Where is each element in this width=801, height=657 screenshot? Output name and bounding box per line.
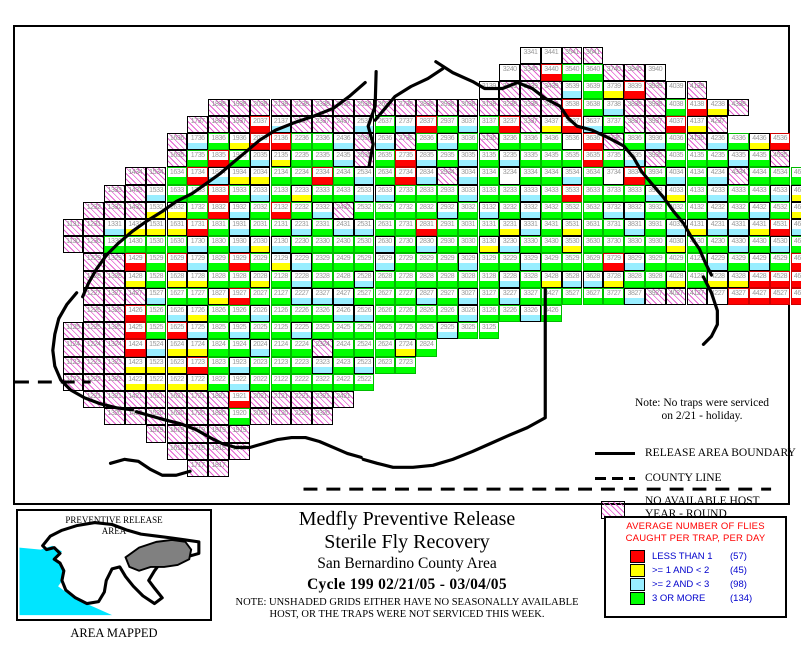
trap-grid-cell[interactable]: 1734 [187,167,208,184]
trap-grid-cell[interactable]: 3539 [562,81,583,98]
trap-grid-cell[interactable]: 3632 [583,202,604,219]
trap-grid-cell[interactable]: 2222 [291,374,312,391]
trap-grid-cell[interactable]: 4032 [666,202,687,219]
trap-grid-cell[interactable]: 3028 [458,271,479,288]
trap-grid-cell[interactable]: 3229 [499,253,520,270]
trap-grid-cell[interactable]: 3232 [499,202,520,219]
trap-grid-cell[interactable]: 2535 [354,150,375,167]
trap-grid-cell[interactable]: 3727 [603,288,624,305]
trap-grid-cell[interactable]: 1719 [187,425,208,442]
trap-grid-cell[interactable]: 1228 [83,271,104,288]
trap-grid-cell[interactable]: 1425 [125,322,146,339]
trap-grid-cell[interactable]: 3731 [603,219,624,236]
trap-grid-cell[interactable]: 4527 [770,288,791,305]
trap-grid-cell[interactable]: 4234 [707,167,728,184]
trap-grid-cell[interactable]: 2327 [312,288,333,305]
trap-grid-cell[interactable]: 1931 [229,219,250,236]
trap-grid-cell[interactable]: 4330 [728,236,749,253]
trap-grid-cell[interactable]: 1819 [208,425,229,442]
trap-grid-cell[interactable]: 2533 [354,185,375,202]
trap-grid-cell[interactable]: 2925 [437,322,458,339]
trap-grid-cell[interactable]: 1937 [229,116,250,133]
trap-grid-cell[interactable]: 3533 [562,185,583,202]
trap-grid-cell[interactable]: 4532 [770,202,791,219]
trap-grid-cell[interactable]: 2230 [291,236,312,253]
trap-grid-cell[interactable]: 2136 [271,133,292,150]
trap-grid-cell[interactable]: 4136 [687,133,708,150]
trap-grid-cell[interactable]: 2632 [375,202,396,219]
trap-grid-cell[interactable]: 2522 [354,374,375,391]
trap-grid-cell[interactable]: 1717 [187,460,208,477]
trap-grid-cell[interactable]: 1729 [187,253,208,270]
trap-grid-cell[interactable]: 3634 [583,167,604,184]
trap-grid-cell[interactable]: 4027 [666,288,687,305]
trap-grid-cell[interactable]: 3734 [603,167,624,184]
trap-grid-cell[interactable]: 2725 [395,322,416,339]
trap-grid-cell[interactable]: 3029 [458,253,479,270]
trap-grid-cell[interactable]: 2030 [250,236,271,253]
trap-grid-cell[interactable]: 1524 [146,339,167,356]
trap-grid-cell[interactable]: 2526 [354,305,375,322]
trap-grid-cell[interactable]: 1920 [229,408,250,425]
trap-grid-cell[interactable]: 4436 [749,133,770,150]
trap-grid-cell[interactable]: 2927 [437,288,458,305]
trap-grid-cell[interactable]: 2426 [333,305,354,322]
trap-grid-cell[interactable]: 2037 [250,116,271,133]
trap-grid-cell[interactable]: 1222 [83,374,104,391]
trap-grid-cell[interactable]: 3540 [562,64,583,81]
trap-grid-cell[interactable]: 2029 [250,253,271,270]
trap-grid-cell[interactable]: 2628 [375,271,396,288]
trap-grid-cell[interactable]: 4233 [707,185,728,202]
trap-grid-cell[interactable]: 1832 [208,202,229,219]
trap-grid-cell[interactable]: 3828 [624,271,645,288]
trap-grid-cell[interactable]: 1825 [208,322,229,339]
trap-grid-cell[interactable]: 1519 [146,425,167,442]
trap-grid-cell[interactable]: 1619 [167,425,188,442]
trap-grid-cell[interactable]: 3233 [499,185,520,202]
trap-grid-cell[interactable]: 3531 [562,219,583,236]
trap-grid-cell[interactable]: 2036 [250,133,271,150]
trap-grid-cell[interactable]: 4530 [770,236,791,253]
trap-grid-cell[interactable]: 2531 [354,219,375,236]
trap-grid-cell[interactable]: 3134 [479,167,500,184]
trap-grid-cell[interactable]: 1528 [146,271,167,288]
trap-grid-cell[interactable]: 2832 [416,202,437,219]
trap-grid-cell[interactable]: 2634 [375,167,396,184]
trap-grid-cell[interactable]: 1725 [187,322,208,339]
trap-grid-cell[interactable]: 2425 [333,322,354,339]
trap-grid-cell[interactable]: 2038 [250,99,271,116]
trap-grid-cell[interactable]: 3635 [583,150,604,167]
trap-grid-cell[interactable]: 3629 [583,253,604,270]
trap-grid-cell[interactable]: 2738 [395,99,416,116]
trap-grid-cell[interactable]: 1925 [229,322,250,339]
trap-grid-cell[interactable]: 4633 [791,185,801,202]
trap-grid-cell[interactable]: 3035 [458,150,479,167]
trap-grid-cell[interactable]: 3340 [520,64,541,81]
trap-grid-cell[interactable]: 2121 [271,391,292,408]
trap-grid-cell[interactable]: 3228 [499,271,520,288]
trap-grid-cell[interactable]: 2137 [271,116,292,133]
trap-grid-cell[interactable]: 1620 [167,408,188,425]
trap-grid-cell[interactable]: 1124 [63,339,84,356]
trap-grid-cell[interactable]: 3933 [645,185,666,202]
trap-grid-cell[interactable]: 3333 [520,185,541,202]
trap-grid-cell[interactable]: 4133 [687,185,708,202]
trap-grid-cell[interactable]: 3436 [541,133,562,150]
trap-grid-cell[interactable]: 2726 [395,305,416,322]
trap-grid-cell[interactable]: 4535 [770,150,791,167]
trap-grid-cell[interactable]: 1224 [83,339,104,356]
trap-grid-cell[interactable]: 3438 [541,99,562,116]
trap-grid-cell[interactable]: 2926 [437,305,458,322]
trap-grid-cell[interactable]: 2332 [312,202,333,219]
trap-grid-cell[interactable]: 1936 [229,133,250,150]
trap-grid-cell[interactable]: 2530 [354,236,375,253]
trap-grid-cell[interactable]: 3440 [541,64,562,81]
trap-grid-cell[interactable]: 2334 [312,167,333,184]
trap-grid-cell[interactable]: 3131 [479,219,500,236]
trap-grid-cell[interactable]: 4227 [707,288,728,305]
trap-grid-cell[interactable]: 4628 [791,271,801,288]
trap-grid-cell[interactable]: 1630 [167,236,188,253]
trap-grid-cell[interactable]: 3939 [645,81,666,98]
trap-grid-cell[interactable]: 3437 [541,116,562,133]
trap-grid-cell[interactable]: 3627 [583,288,604,305]
trap-grid-cell[interactable]: 1323 [104,357,125,374]
trap-grid-cell[interactable]: 3932 [645,202,666,219]
trap-grid-cell[interactable]: 1831 [208,219,229,236]
trap-grid-cell[interactable]: 3227 [499,288,520,305]
trap-grid-cell[interactable]: 2026 [250,305,271,322]
trap-grid-cell[interactable]: 2835 [416,150,437,167]
trap-grid-cell[interactable]: 1631 [167,219,188,236]
trap-grid-cell[interactable]: 2127 [271,288,292,305]
trap-grid-cell[interactable]: 3532 [562,202,583,219]
trap-grid-cell[interactable]: 4529 [770,253,791,270]
trap-grid-cell[interactable]: 3927 [645,288,666,305]
trap-grid-cell[interactable]: 2638 [375,99,396,116]
trap-grid-cell[interactable]: 3529 [562,253,583,270]
trap-grid-cell[interactable]: 2623 [375,357,396,374]
trap-grid-cell[interactable]: 2629 [375,253,396,270]
trap-grid[interactable]: 3341344135413641324033403440354036403740… [15,27,788,503]
trap-grid-cell[interactable]: 4231 [707,219,728,236]
trap-grid-cell[interactable]: 2024 [250,339,271,356]
trap-grid-cell[interactable]: 2931 [437,219,458,236]
trap-grid-cell[interactable]: 1821 [208,391,229,408]
trap-grid-cell[interactable]: 3640 [583,64,604,81]
trap-grid-cell[interactable]: 2223 [291,357,312,374]
trap-grid-cell[interactable]: 2021 [250,391,271,408]
trap-grid-cell[interactable]: 1324 [104,339,125,356]
trap-grid-cell[interactable]: 4229 [707,253,728,270]
trap-grid-cell[interactable]: 3838 [624,99,645,116]
trap-grid-cell[interactable]: 1726 [187,305,208,322]
trap-grid-cell[interactable]: 4128 [687,271,708,288]
trap-grid-cell[interactable]: 2233 [291,185,312,202]
trap-grid-cell[interactable]: 1837 [208,116,229,133]
trap-grid-cell[interactable]: 2724 [395,339,416,356]
trap-grid-cell[interactable]: 1531 [146,219,167,236]
trap-grid-cell[interactable]: 4033 [666,185,687,202]
trap-grid-cell[interactable]: 4235 [707,150,728,167]
trap-grid-cell[interactable]: 4130 [687,236,708,253]
trap-grid-cell[interactable]: 3931 [645,219,666,236]
trap-grid-cell[interactable]: 2836 [416,133,437,150]
trap-grid-cell[interactable]: 1935 [229,150,250,167]
trap-grid-cell[interactable]: 2220 [291,408,312,425]
trap-grid-cell[interactable]: 2534 [354,167,375,184]
trap-grid-cell[interactable]: 2434 [333,167,354,184]
trap-grid-cell[interactable]: 1532 [146,202,167,219]
trap-grid-cell[interactable]: 1627 [167,288,188,305]
trap-grid-cell[interactable]: 2228 [291,271,312,288]
trap-grid-cell[interactable]: 3235 [499,150,520,167]
trap-grid-cell[interactable]: 3139 [479,81,500,98]
trap-grid-cell[interactable]: 1918 [229,443,250,460]
trap-grid-cell[interactable]: 3737 [603,116,624,133]
trap-grid-cell[interactable]: 1731 [187,219,208,236]
trap-grid-cell[interactable]: 1329 [104,253,125,270]
trap-grid-cell[interactable]: 3431 [541,219,562,236]
trap-grid-cell[interactable]: 3237 [499,116,520,133]
trap-grid-cell[interactable]: 3637 [583,116,604,133]
trap-grid-cell[interactable]: 3535 [562,150,583,167]
trap-grid-cell[interactable]: 1827 [208,288,229,305]
trap-grid-cell[interactable]: 3036 [458,133,479,150]
trap-grid-cell[interactable]: 3538 [562,99,583,116]
trap-grid-cell[interactable]: 4331 [728,219,749,236]
trap-grid-cell[interactable]: 3435 [541,150,562,167]
trap-grid-cell[interactable]: 2131 [271,219,292,236]
trap-grid-cell[interactable]: 3133 [479,185,500,202]
trap-grid-cell[interactable]: 2234 [291,167,312,184]
trap-grid-cell[interactable]: 1422 [125,374,146,391]
trap-grid-cell[interactable]: 2631 [375,219,396,236]
trap-grid-cell[interactable]: 4138 [687,99,708,116]
trap-grid-cell[interactable]: 4432 [749,202,770,219]
trap-grid-cell[interactable]: 3827 [624,288,645,305]
trap-grid-cell[interactable]: 3027 [458,288,479,305]
trap-grid-cell[interactable]: 2330 [312,236,333,253]
trap-grid-cell[interactable]: 1321 [104,391,125,408]
trap-grid-cell[interactable]: 1130 [63,236,84,253]
trap-grid-cell[interactable]: 2435 [333,150,354,167]
trap-grid-cell[interactable]: 1722 [187,374,208,391]
trap-grid-cell[interactable]: 3338 [520,99,541,116]
trap-grid-cell[interactable]: 2025 [250,322,271,339]
trap-grid-cell[interactable]: 1625 [167,322,188,339]
trap-grid-cell[interactable]: 4030 [666,236,687,253]
trap-grid-cell[interactable]: 1534 [146,167,167,184]
trap-grid-cell[interactable]: 1229 [83,253,104,270]
trap-grid-cell[interactable]: 1732 [187,202,208,219]
trap-grid-cell[interactable]: 4634 [791,167,801,184]
trap-grid-cell[interactable]: 1817 [208,460,229,477]
trap-grid-cell[interactable]: 3429 [541,253,562,270]
trap-grid-cell[interactable]: 3132 [479,202,500,219]
trap-grid-cell[interactable]: 2635 [375,150,396,167]
trap-grid-cell[interactable]: 4036 [666,133,687,150]
trap-grid-cell[interactable]: 2023 [250,357,271,374]
trap-grid-cell[interactable]: 1737 [187,116,208,133]
trap-grid-cell[interactable]: 3832 [624,202,645,219]
trap-grid-cell[interactable]: 2424 [333,339,354,356]
trap-grid-cell[interactable]: 1331 [104,219,125,236]
trap-grid-cell[interactable]: 4236 [707,133,728,150]
trap-grid-cell[interactable]: 3240 [499,64,520,81]
trap-grid-cell[interactable]: 3331 [520,219,541,236]
trap-grid-cell[interactable]: 3337 [520,116,541,133]
trap-grid-cell[interactable]: 1921 [229,391,250,408]
trap-grid-cell[interactable]: 1829 [208,253,229,270]
trap-grid-cell[interactable]: 2431 [333,219,354,236]
trap-grid-cell[interactable]: 1131 [63,219,84,236]
trap-grid-cell[interactable]: 2138 [271,99,292,116]
trap-grid-cell[interactable]: 4037 [666,116,687,133]
trap-grid-cell[interactable]: 4534 [770,167,791,184]
trap-grid-cell[interactable]: 1828 [208,271,229,288]
trap-grid-cell[interactable]: 3430 [541,236,562,253]
trap-grid-cell[interactable]: 1626 [167,305,188,322]
trap-grid-cell[interactable]: 3127 [479,288,500,305]
trap-grid-cell[interactable]: 3936 [645,133,666,150]
trap-grid-cell[interactable]: 2736 [395,133,416,150]
trap-grid-cell[interactable]: 4536 [770,133,791,150]
trap-grid-cell[interactable]: 2324 [312,339,333,356]
trap-grid-cell[interactable]: 1928 [229,271,250,288]
trap-grid-cell[interactable]: 1923 [229,357,250,374]
trap-grid-cell[interactable]: 2333 [312,185,333,202]
trap-grid-cell[interactable]: 1432 [125,202,146,219]
trap-grid-cell[interactable]: 1227 [83,288,104,305]
trap-grid-cell[interactable]: 2321 [312,391,333,408]
trap-grid-cell[interactable]: 1424 [125,339,146,356]
trap-grid-cell[interactable]: 3728 [603,271,624,288]
trap-grid-cell[interactable]: 3536 [562,133,583,150]
trap-grid-cell[interactable]: 2930 [437,236,458,253]
trap-grid-cell[interactable]: 1635 [167,150,188,167]
trap-grid-cell[interactable]: 1718 [187,443,208,460]
trap-grid-cell[interactable]: 1230 [83,236,104,253]
trap-grid-cell[interactable]: 4431 [749,219,770,236]
trap-grid-cell[interactable]: 2734 [395,167,416,184]
trap-grid-cell[interactable]: 2730 [395,236,416,253]
trap-grid-cell[interactable]: 4427 [749,288,770,305]
trap-grid-cell[interactable]: 2826 [416,305,437,322]
trap-grid-cell[interactable]: 3937 [645,116,666,133]
trap-grid-cell[interactable]: 1522 [146,374,167,391]
trap-grid-cell[interactable]: 3135 [479,150,500,167]
trap-grid-cell[interactable]: 1226 [83,305,104,322]
trap-grid-cell[interactable]: 1929 [229,253,250,270]
trap-grid-cell[interactable]: 3433 [541,185,562,202]
trap-grid-cell[interactable]: 1328 [104,271,125,288]
trap-grid-cell[interactable]: 1420 [125,408,146,425]
trap-grid-cell[interactable]: 2929 [437,253,458,270]
trap-grid-cell[interactable]: 1934 [229,167,250,184]
trap-grid-cell[interactable]: 1123 [63,357,84,374]
trap-grid-cell[interactable]: 2236 [291,133,312,150]
trap-grid-cell[interactable]: 2430 [333,236,354,253]
trap-grid-cell[interactable]: 2027 [250,288,271,305]
trap-grid-cell[interactable]: 3335 [520,150,541,167]
trap-grid-cell[interactable]: 4428 [749,271,770,288]
trap-grid-cell[interactable]: 1320 [104,408,125,425]
trap-grid-cell[interactable]: 2226 [291,305,312,322]
trap-grid-cell[interactable]: 3729 [603,253,624,270]
trap-grid-cell[interactable]: 1622 [167,374,188,391]
trap-grid-cell[interactable]: 3136 [479,133,500,150]
trap-grid-cell[interactable]: 4139 [687,81,708,98]
trap-grid-cell[interactable]: 1423 [125,357,146,374]
trap-grid-cell[interactable]: 2028 [250,271,271,288]
trap-grid-cell[interactable]: 1520 [146,408,167,425]
trap-grid-cell[interactable]: 3327 [520,288,541,305]
trap-grid-cell[interactable]: 1823 [208,357,229,374]
trap-grid-cell[interactable]: 3328 [520,271,541,288]
trap-grid-cell[interactable]: 3740 [603,64,624,81]
trap-grid-cell[interactable]: 3630 [583,236,604,253]
trap-grid-cell[interactable]: 4631 [791,219,801,236]
trap-grid-cell[interactable]: 2337 [312,116,333,133]
trap-grid-cell[interactable]: 4528 [770,271,791,288]
trap-grid-cell[interactable]: 4038 [666,99,687,116]
trap-grid-cell[interactable]: 1629 [167,253,188,270]
trap-grid-cell[interactable]: 1733 [187,185,208,202]
trap-grid-cell[interactable]: 3732 [603,202,624,219]
trap-grid-cell[interactable]: 2723 [395,357,416,374]
trap-grid-cell[interactable]: 1427 [125,288,146,305]
trap-grid-cell[interactable]: 1924 [229,339,250,356]
trap-grid-cell[interactable]: 4230 [707,236,728,253]
trap-grid-cell[interactable]: 3128 [479,271,500,288]
trap-grid-cell[interactable]: 1826 [208,305,229,322]
trap-grid-cell[interactable]: 3038 [458,99,479,116]
trap-grid-cell[interactable]: 2035 [250,150,271,167]
trap-grid-cell[interactable]: 2225 [291,322,312,339]
trap-grid-cell[interactable]: 3231 [499,219,520,236]
trap-grid-cell[interactable]: 1633 [167,185,188,202]
trap-grid-cell[interactable]: 3026 [458,305,479,322]
trap-grid-cell[interactable]: 2732 [395,202,416,219]
trap-grid-cell[interactable]: 2831 [416,219,437,236]
trap-grid-cell[interactable]: 4238 [707,99,728,116]
trap-grid-cell[interactable]: 4332 [728,202,749,219]
trap-grid-cell[interactable]: 1822 [208,374,229,391]
trap-grid-cell[interactable]: 4629 [791,253,801,270]
trap-grid-cell[interactable]: 3835 [624,150,645,167]
trap-grid-cell[interactable]: 1927 [229,288,250,305]
trap-grid-cell[interactable]: 3837 [624,116,645,133]
trap-grid-cell[interactable]: 2433 [333,185,354,202]
trap-grid-cell[interactable]: 1618 [167,443,188,460]
trap-grid-cell[interactable]: 4129 [687,253,708,270]
trap-grid-cell[interactable]: 1232 [83,202,104,219]
trap-grid-cell[interactable]: 3130 [479,236,500,253]
trap-grid-cell[interactable]: 1728 [187,271,208,288]
trap-grid-cell[interactable]: 4429 [749,253,770,270]
trap-grid-cell[interactable]: 3329 [520,253,541,270]
trap-grid-cell[interactable]: 3738 [603,99,624,116]
trap-grid-cell[interactable]: 3037 [458,116,479,133]
trap-grid-cell[interactable]: 1326 [104,305,125,322]
trap-grid-cell[interactable]: 1723 [187,357,208,374]
trap-grid-cell[interactable]: 2624 [375,339,396,356]
trap-grid-cell[interactable]: 3929 [645,253,666,270]
